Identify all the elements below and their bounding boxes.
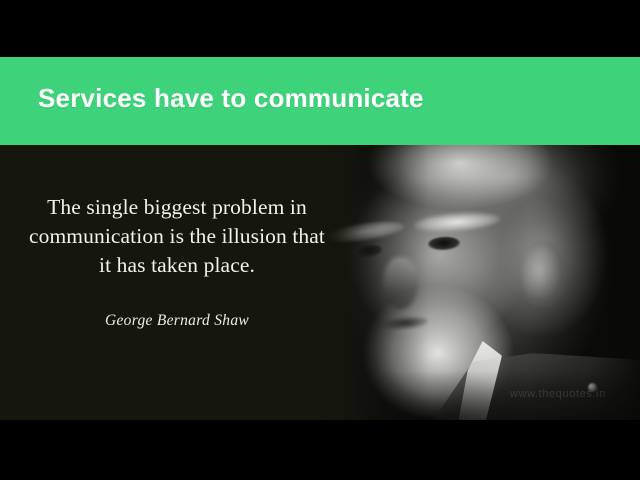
quote-line-2: communication is the illusion that <box>14 222 340 251</box>
portrait-vignette <box>310 145 640 420</box>
quote-author: George Bernard Shaw <box>14 280 340 330</box>
page-title: Services have to communicate <box>38 83 424 114</box>
letterbox-bar-bottom <box>0 420 640 480</box>
quote-text: The single biggest problem in communicat… <box>14 193 340 280</box>
quote-line-1: The single biggest problem in <box>14 193 340 222</box>
content-stage: www.thequotes.in The single biggest prob… <box>0 145 640 420</box>
slide-canvas: Services have to communicate www.thequot… <box>0 0 640 480</box>
portrait-image: www.thequotes.in <box>310 145 640 420</box>
letterbox-bar-top <box>0 0 640 57</box>
quote-line-3: it has taken place. <box>14 251 340 280</box>
watermark-text: www.thequotes.in <box>510 388 606 400</box>
header-band: Services have to communicate <box>0 57 640 145</box>
quote-block: The single biggest problem in communicat… <box>14 193 340 330</box>
